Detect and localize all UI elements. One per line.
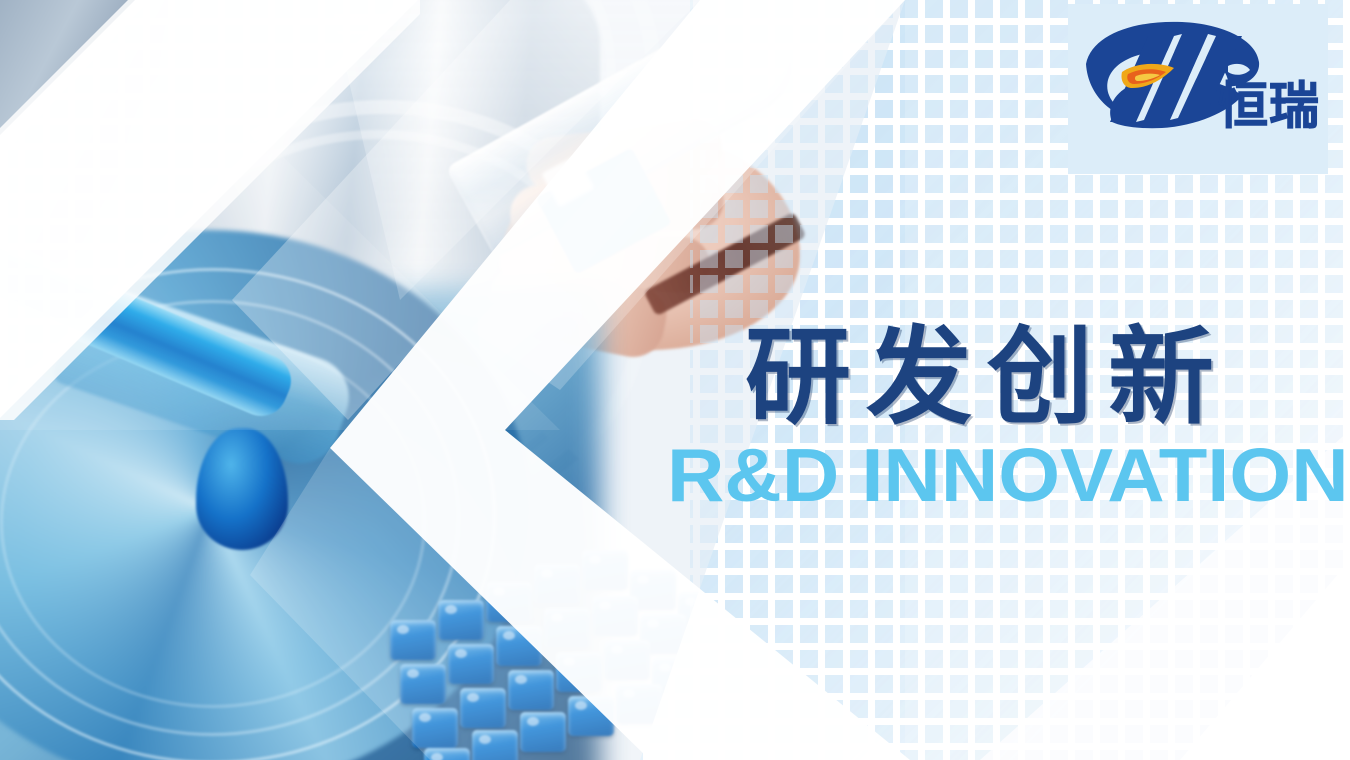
vial <box>424 748 470 760</box>
vial <box>400 664 446 704</box>
blue-vial-rack-photo <box>380 540 810 760</box>
vial <box>592 596 638 636</box>
vial <box>616 684 662 724</box>
page-title-chinese: 研发创新 <box>745 322 1345 434</box>
vial <box>438 600 484 640</box>
logo-brand-chinese: 恒瑞 <box>1218 66 1320 138</box>
vial <box>508 670 554 710</box>
vial <box>486 582 532 622</box>
vial <box>496 626 542 666</box>
vial <box>544 608 590 648</box>
vial <box>582 550 628 590</box>
vial <box>412 708 458 748</box>
vial <box>604 640 650 680</box>
vial <box>460 688 506 728</box>
vial <box>664 702 710 742</box>
vial <box>556 652 602 692</box>
logo-panel[interactable]: 恒瑞 <box>1068 4 1328 174</box>
blue-liquid-drop <box>196 428 288 550</box>
page-subtitle-english: R&D INNOVATION <box>667 438 1350 513</box>
vial <box>448 644 494 684</box>
vial <box>472 730 518 760</box>
vial <box>390 620 436 660</box>
headline-block: 研发创新 R&D INNOVATION <box>745 322 1345 513</box>
vial <box>520 712 566 752</box>
rd-innovation-banner: 研发创新 R&D INNOVATION 恒瑞 <box>0 0 1350 760</box>
vial <box>568 696 614 736</box>
vial <box>534 564 580 604</box>
